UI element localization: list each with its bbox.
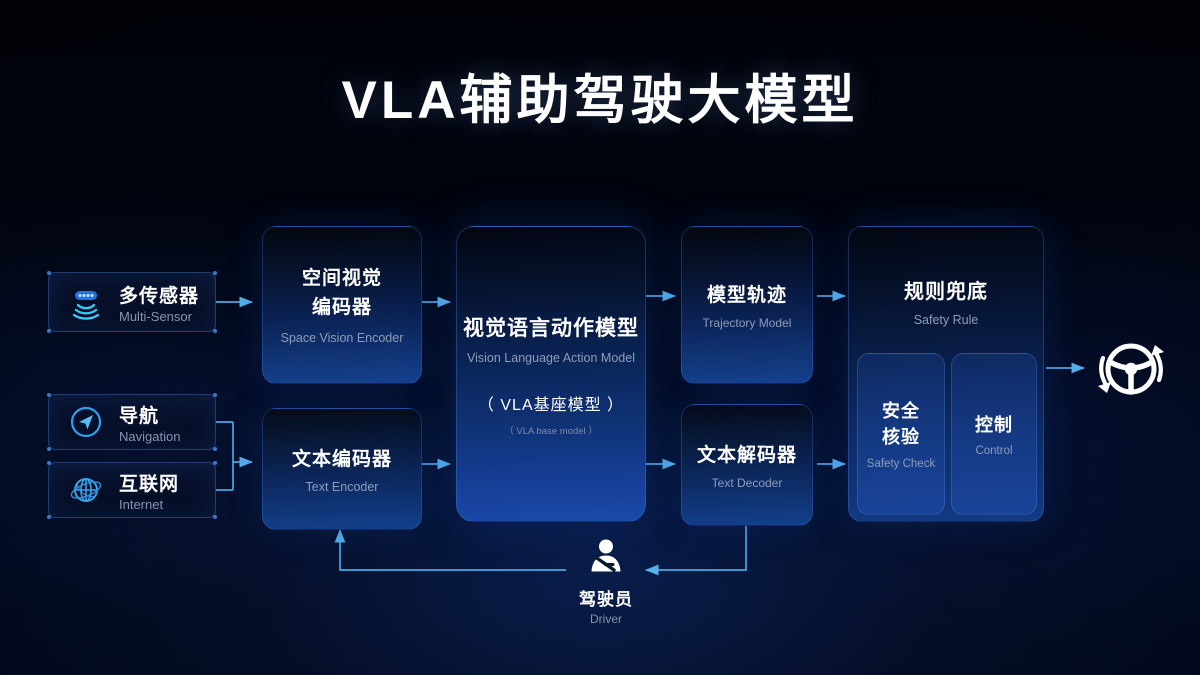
corner-dot	[47, 329, 51, 333]
core-sublabel-en: （ VLA base model ）	[504, 423, 597, 437]
corner-dot	[47, 515, 51, 519]
node-label-en: Trajectory Model	[703, 316, 792, 330]
input-navigation[interactable]: 导航 Navigation	[48, 394, 216, 450]
node-label-cn-line1: 空间视觉	[302, 265, 382, 294]
safety-label-en: Safety Rule	[849, 313, 1043, 327]
safety-check-cn-line1: 安全	[882, 398, 920, 424]
node-text-encoder[interactable]: 文本编码器 Text Encoder	[262, 408, 422, 530]
input-label-cn: 多传感器	[119, 281, 199, 308]
page-title: VLA辅助驾驶大模型	[0, 70, 1200, 133]
core-label-cn: 视觉语言动作模型	[463, 312, 639, 342]
corner-dot	[213, 461, 217, 465]
driver-label-cn: 驾驶员	[579, 585, 633, 610]
corner-dot	[213, 393, 217, 397]
node-vla-base-model[interactable]: 视觉语言动作模型 Vision Language Action Model （ …	[456, 226, 646, 522]
steering-wheel-icon	[1085, 322, 1177, 414]
node-space-vision-encoder[interactable]: 空间视觉 编码器 Space Vision Encoder	[262, 226, 422, 384]
control-en: Control	[975, 445, 1012, 457]
input-internet[interactable]: 互联网 Internet	[48, 462, 216, 518]
core-label-en: Vision Language Action Model	[467, 351, 635, 365]
node-label-cn-line1: 文本编码器	[292, 444, 392, 471]
corner-dot	[47, 393, 51, 397]
node-control[interactable]: 控制 Control	[951, 353, 1037, 515]
input-label-en: Navigation	[119, 429, 180, 444]
corner-dot	[213, 329, 217, 333]
input-label-cn: 互联网	[119, 469, 179, 496]
node-label-cn-line2: 编码器	[312, 294, 372, 323]
driver-person-icon	[586, 538, 626, 581]
node-trajectory-model[interactable]: 模型轨迹 Trajectory Model	[681, 226, 813, 384]
node-label-en: Text Encoder	[306, 480, 379, 494]
safety-label-cn: 规则兜底	[849, 275, 1043, 304]
radar-sensor-icon	[65, 281, 107, 323]
globe-icon	[65, 469, 107, 511]
corner-dot	[47, 271, 51, 275]
input-label-en: Internet	[119, 497, 179, 512]
input-multi-sensor[interactable]: 多传感器 Multi-Sensor	[48, 272, 216, 332]
corner-dot	[47, 447, 51, 451]
corner-dot	[213, 271, 217, 275]
driver-label-en: Driver	[590, 612, 622, 626]
node-text-decoder[interactable]: 文本解码器 Text Decoder	[681, 404, 813, 526]
control-cn: 控制	[975, 411, 1013, 437]
node-driver[interactable]: 驾驶员 Driver	[566, 538, 646, 626]
corner-dot	[47, 461, 51, 465]
node-label-en: Space Vision Encoder	[281, 331, 404, 345]
node-label-cn: 模型轨迹	[707, 280, 787, 307]
navigation-arrow-icon	[65, 401, 107, 443]
node-label-en: Text Decoder	[712, 476, 783, 490]
node-safety-rule[interactable]: 规则兜底 Safety Rule 安全 核验 Safety Check 控制 C…	[848, 226, 1044, 522]
core-sublabel-cn: （ VLA基座模型 ）	[478, 391, 624, 415]
node-safety-check[interactable]: 安全 核验 Safety Check	[857, 353, 945, 515]
corner-dot	[213, 447, 217, 451]
input-label-en: Multi-Sensor	[119, 309, 199, 324]
safety-check-en: Safety Check	[867, 458, 935, 470]
corner-dot	[213, 515, 217, 519]
safety-check-cn-line2: 核验	[882, 424, 920, 450]
node-label-cn: 文本解码器	[697, 440, 797, 467]
input-label-cn: 导航	[119, 401, 180, 428]
diagram-canvas: VLA辅助驾驶大模型	[0, 0, 1200, 675]
